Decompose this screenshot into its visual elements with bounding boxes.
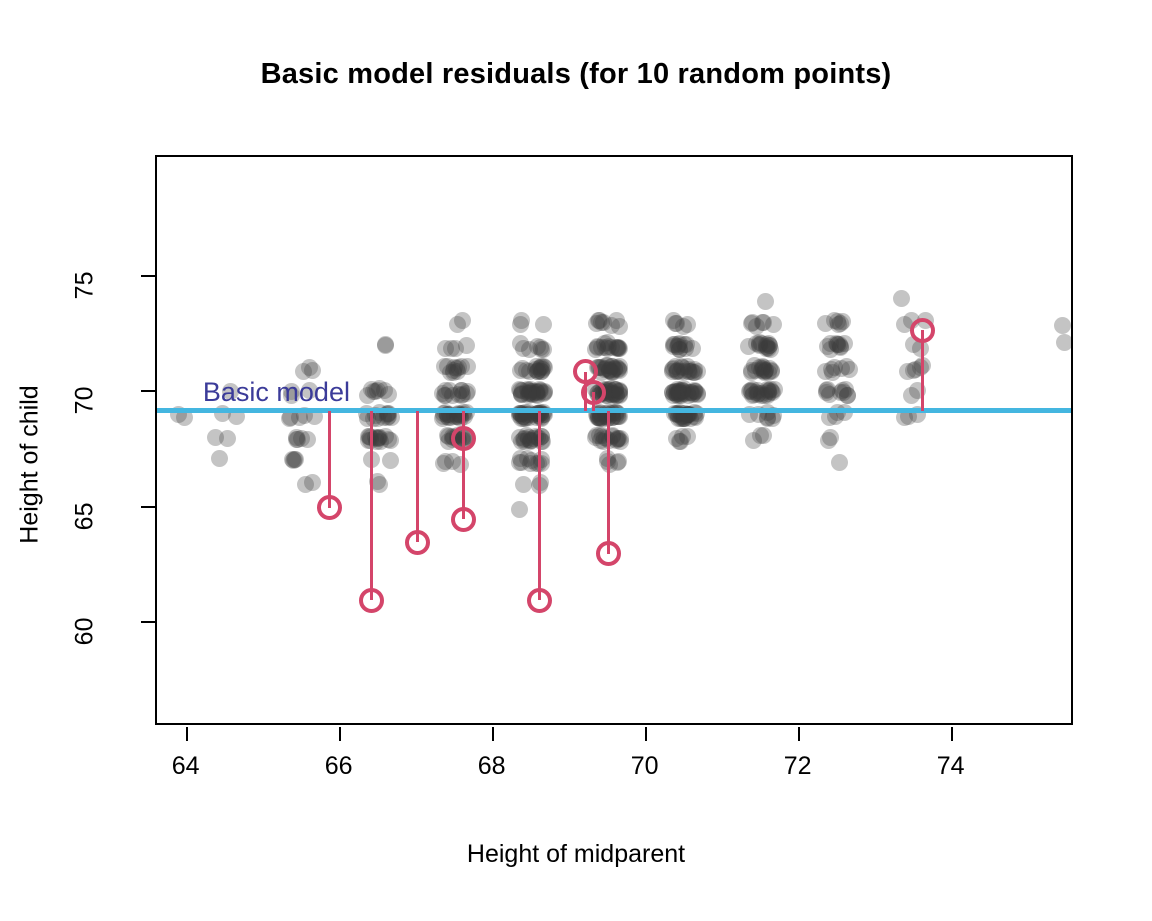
data-point (511, 501, 528, 518)
highlighted-data-point (527, 588, 552, 613)
highlighted-data-point (910, 318, 935, 343)
residual-line (328, 411, 331, 508)
y-axis-label: Height of child (16, 205, 45, 725)
data-point (903, 387, 920, 404)
data-point (512, 316, 529, 333)
data-point (453, 382, 470, 399)
data-point (823, 361, 840, 378)
data-point (515, 476, 532, 493)
x-axis-tick-label: 66 (299, 752, 379, 781)
x-axis-tick-label: 74 (911, 752, 991, 781)
data-point (211, 450, 228, 467)
data-point (664, 384, 681, 401)
data-point (588, 427, 605, 444)
data-point (382, 452, 399, 469)
data-point (893, 290, 910, 307)
x-axis-tick (645, 727, 647, 741)
y-axis-tick-label: 65 (71, 502, 100, 592)
model-line (157, 408, 1073, 413)
data-point (529, 363, 546, 380)
residual-line (416, 411, 419, 543)
residual-line (607, 411, 610, 554)
data-point (288, 431, 305, 448)
data-point (371, 476, 388, 493)
x-axis-tick (339, 727, 341, 741)
highlighted-data-point (359, 588, 384, 613)
data-point (821, 386, 838, 403)
x-axis-tick-label: 70 (605, 752, 685, 781)
data-point (284, 451, 301, 468)
page-title: Basic model residuals (for 10 random poi… (0, 58, 1152, 91)
x-axis-tick (951, 727, 953, 741)
highlighted-data-point (317, 495, 342, 520)
y-axis-tick (141, 506, 155, 508)
x-axis-label: Height of midparent (0, 840, 1152, 869)
data-point (829, 336, 846, 353)
x-axis-tick (492, 727, 494, 741)
data-point (671, 433, 688, 450)
data-point (529, 338, 546, 355)
y-axis-tick (141, 390, 155, 392)
x-axis-tick-label: 68 (452, 752, 532, 781)
data-point (449, 316, 466, 333)
highlighted-data-point (596, 541, 621, 566)
data-point (748, 318, 765, 335)
y-axis-tick (141, 621, 155, 623)
plot-panel: Basic model (155, 155, 1073, 725)
highlighted-data-point (581, 380, 606, 405)
residual-line (370, 411, 373, 600)
residual-line (538, 411, 541, 600)
data-point (535, 316, 552, 333)
data-point (686, 382, 703, 399)
highlighted-data-point (451, 507, 476, 532)
data-point (757, 293, 774, 310)
model-line-label: Basic model (203, 377, 350, 408)
data-point (838, 358, 855, 375)
chart-canvas: Basic model residuals (for 10 random poi… (0, 0, 1152, 921)
data-point (514, 360, 531, 377)
data-point (588, 315, 605, 332)
x-axis-tick-label: 72 (758, 752, 838, 781)
data-point (820, 432, 837, 449)
data-point (219, 430, 236, 447)
data-point (752, 427, 769, 444)
x-axis-tick (186, 727, 188, 741)
highlighted-data-point (451, 426, 476, 451)
y-axis-tick (141, 275, 155, 277)
data-point (1056, 334, 1073, 351)
data-point (611, 318, 628, 335)
data-point (743, 383, 760, 400)
data-point (528, 386, 545, 403)
y-axis-tick-label: 70 (71, 387, 100, 477)
data-point (522, 433, 539, 450)
data-point (1054, 317, 1071, 334)
data-point (589, 339, 606, 356)
x-axis-tick-label: 64 (146, 752, 226, 781)
x-axis-tick (798, 727, 800, 741)
data-point (459, 358, 476, 375)
data-point (672, 363, 689, 380)
y-axis-tick-label: 75 (71, 272, 100, 362)
data-point (447, 340, 464, 357)
y-axis-tick-label: 60 (71, 618, 100, 708)
data-point (611, 382, 628, 399)
data-point (831, 454, 848, 471)
data-point (763, 363, 780, 380)
data-point (304, 474, 321, 491)
highlighted-data-point (405, 530, 430, 555)
data-point (380, 386, 397, 403)
